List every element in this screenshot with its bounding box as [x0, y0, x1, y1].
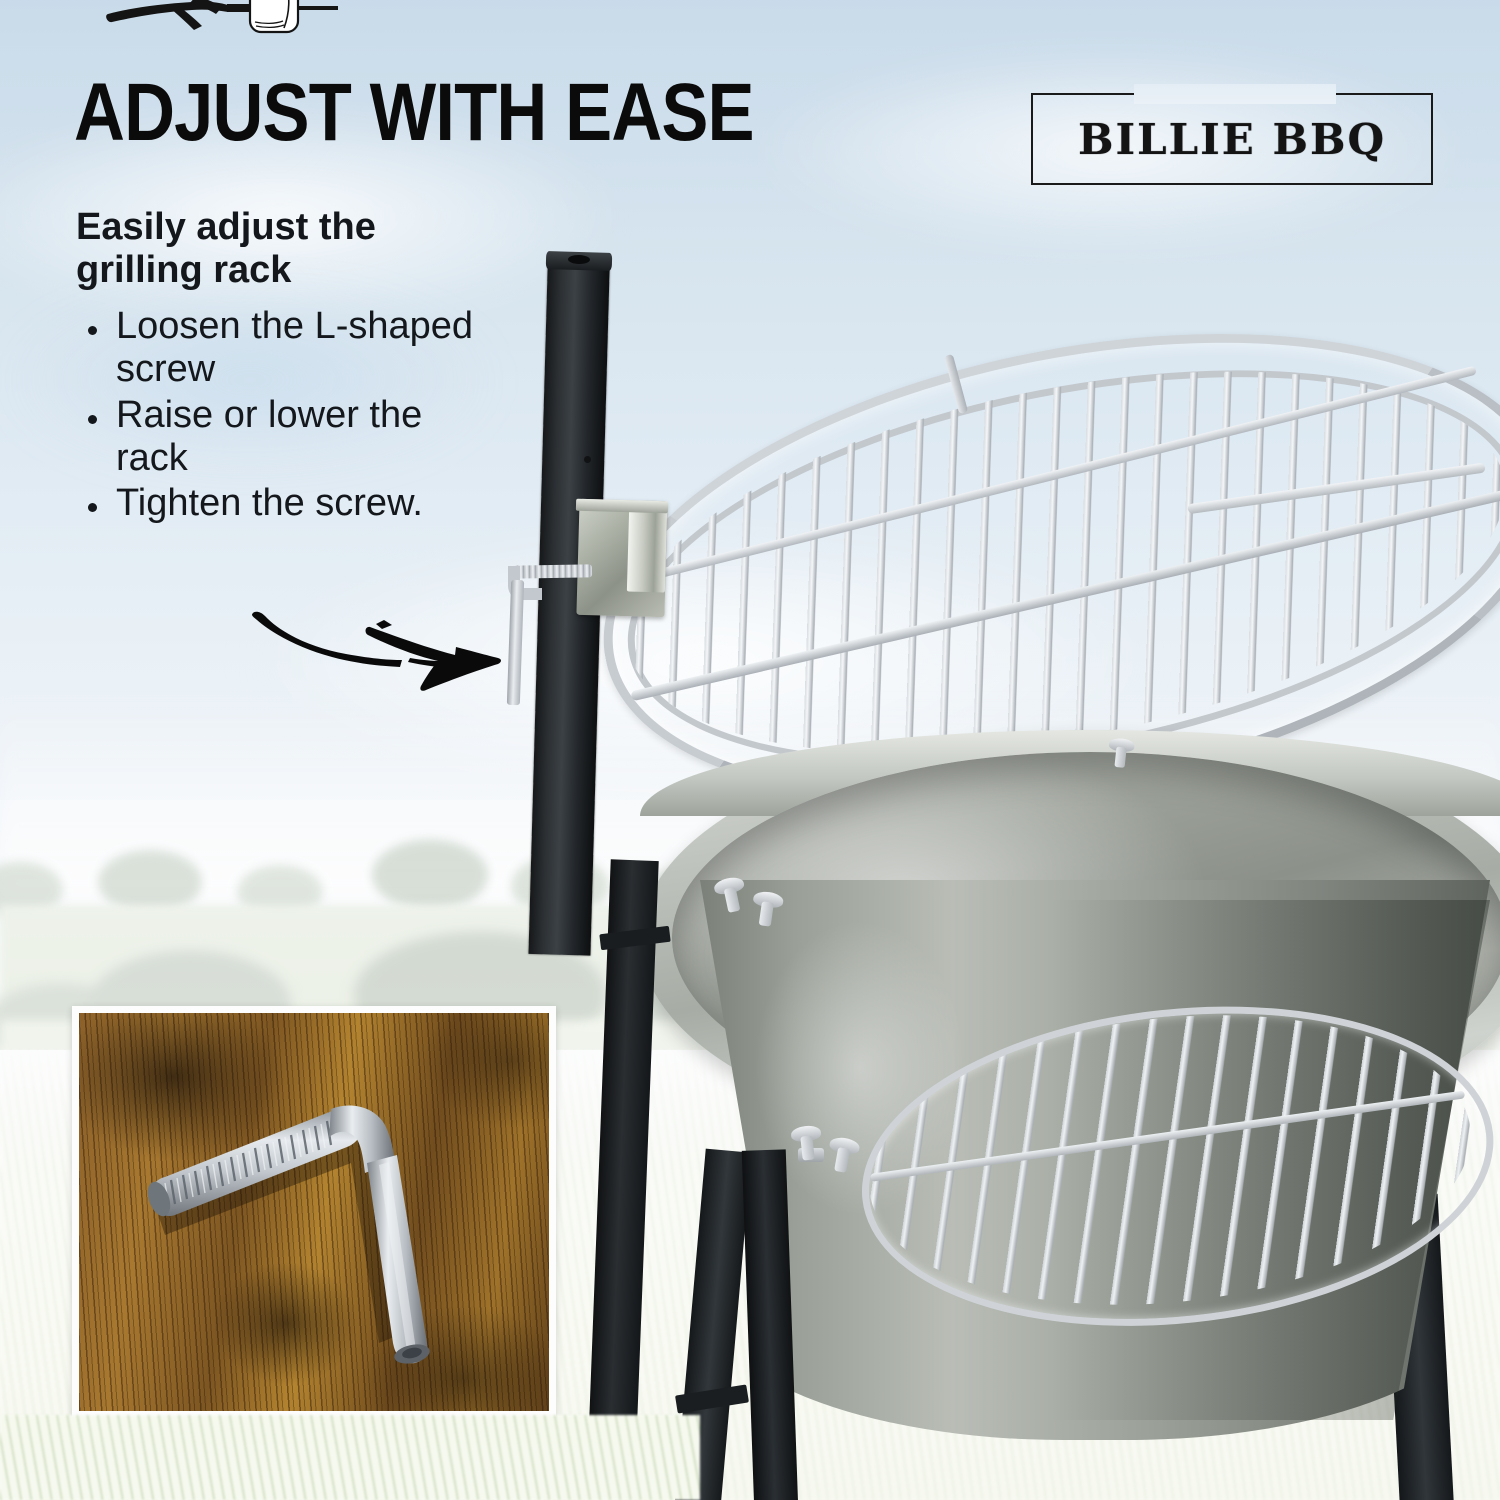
page-subtitle: Easily adjust the grilling rack: [76, 206, 456, 293]
inset-photo-wood-background: [79, 1013, 549, 1411]
list-item: Raise or lower the rack: [76, 394, 496, 481]
list-item: Loosen the L-shaped screw: [76, 305, 496, 392]
promo-image-canvas: ADJUST WITH EASE Easily adjust the grill…: [0, 0, 1500, 1500]
wing-nut: [825, 1136, 860, 1175]
brand-name: BILLIE BBQ: [1033, 119, 1431, 161]
wing-nut: [750, 890, 784, 928]
bracket-top-lip: [576, 499, 668, 514]
bracket-highlight: [627, 509, 667, 592]
brand-logo: BILLIE BBQ: [1031, 93, 1433, 185]
grill-post-top-hole: [568, 255, 590, 265]
logo-border-gap: [1134, 84, 1336, 104]
pointer-arrow-icon: [250, 600, 520, 695]
l-shaped-screw-photo: [79, 1013, 549, 1411]
instruction-list: Loosen the L-shaped screw Raise or lower…: [76, 305, 496, 528]
marshmallow-on-stick-icon: [100, 0, 350, 40]
wing-nut: [790, 1125, 823, 1162]
wing-nut: [1107, 737, 1135, 768]
grill-post-pin-hole: [584, 456, 591, 463]
inset-photo-frame: [72, 1006, 556, 1418]
foreground-grass-strip: [0, 1415, 700, 1500]
list-item: Tighten the screw.: [76, 482, 496, 525]
page-title: ADJUST WITH EASE: [74, 72, 754, 154]
